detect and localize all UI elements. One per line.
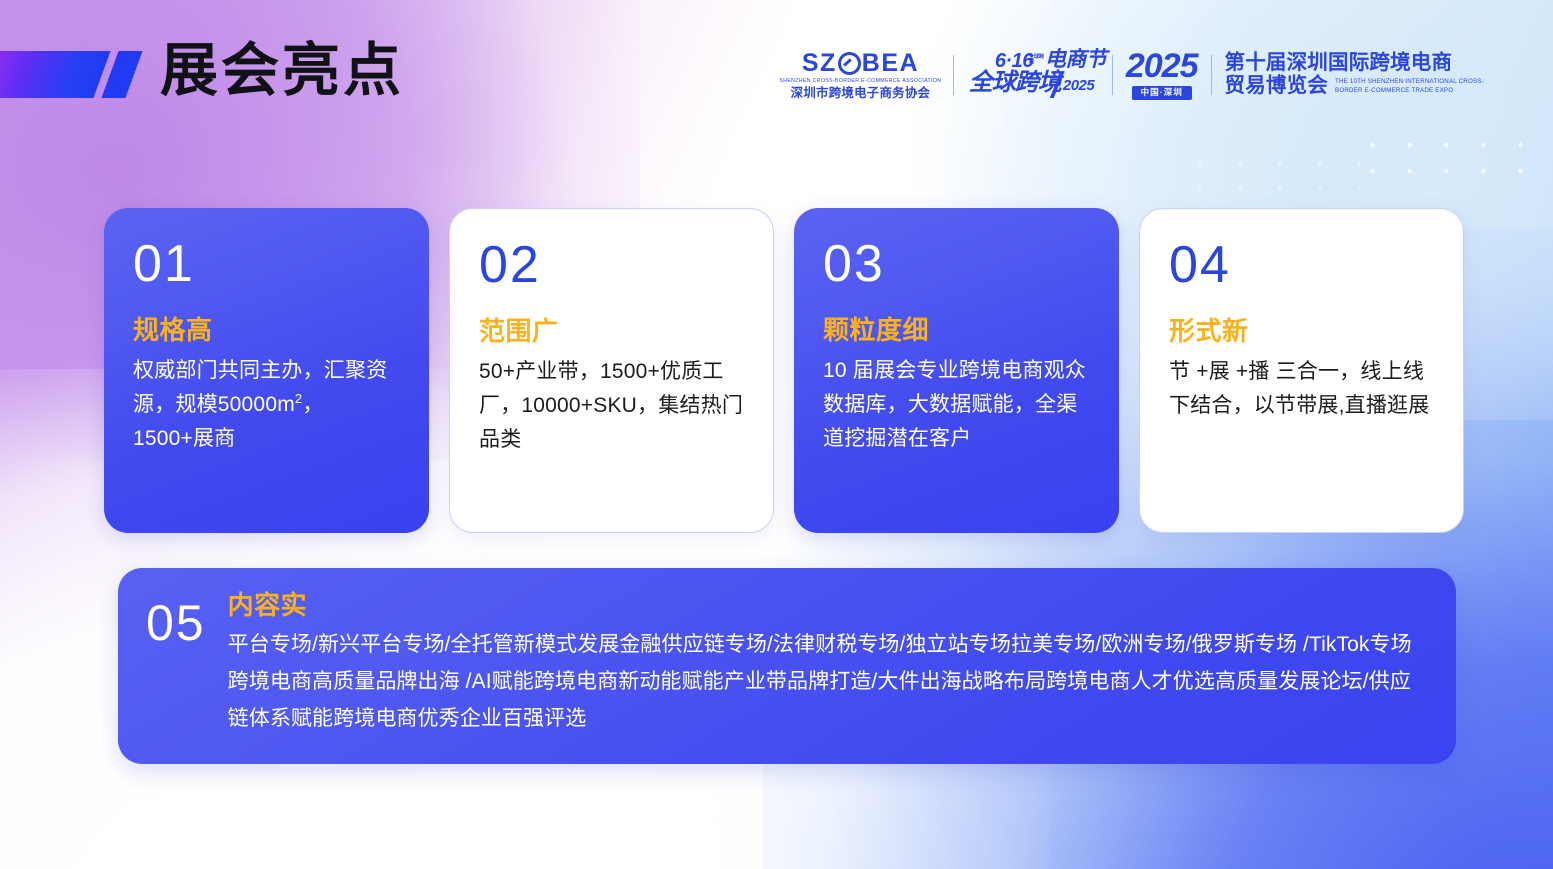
festival-year: 2025 bbox=[1063, 78, 1094, 93]
highlight-card-01[interactable]: 01 规格高 权威部门共同主办，汇聚资源，规模50000m2，1500+展商 bbox=[104, 208, 429, 533]
card-title: 颗粒度细 bbox=[823, 316, 1093, 346]
festival-logo: 6·16 全球跨境 电商节 全球跨境 2025 bbox=[967, 50, 1099, 100]
card-body: 50+产业带，1500+优质工厂，10000+SKU，集结热门品类 bbox=[479, 355, 747, 457]
card-title: 内容实 bbox=[228, 590, 1422, 621]
card-title: 规格高 bbox=[133, 316, 403, 346]
expo-name-logo: 第十届深圳国际跨境电商 贸易博览会 THE 10TH SHENZHEN INTE… bbox=[1225, 52, 1488, 98]
festival-name: 电商节 bbox=[1045, 49, 1107, 70]
logo-divider-1 bbox=[953, 55, 954, 95]
dot-pattern-secondary bbox=[1180, 150, 1360, 190]
slash-bar-primary bbox=[0, 51, 111, 98]
card-body: 平台专场/新兴平台专场/全托管新模式发展金融供应链专场/法律财税专场/独立站专场… bbox=[228, 627, 1422, 737]
page-header: 展会亮点 SZ BEA SHENZHEN CROSS-BORDER E-COMM… bbox=[0, 0, 1553, 140]
association-english-name: SHENZHEN CROSS-BORDER E-COMMERCE ASSOCIA… bbox=[779, 79, 941, 84]
highlight-card-05[interactable]: 05 内容实 平台专场/新兴平台专场/全托管新模式发展金融供应链专场/法律财税专… bbox=[118, 568, 1456, 764]
card-body-pre: 权威部门共同主办，汇聚资源，规模50000m bbox=[133, 359, 387, 416]
card-number: 01 bbox=[133, 238, 403, 290]
logo-lockup: SZ BEA SHENZHEN CROSS-BORDER E-COMMERCE … bbox=[781, 46, 1487, 104]
expo-year-logo: 2025 中国·深圳 bbox=[1126, 50, 1198, 99]
card-number: 04 bbox=[1169, 239, 1437, 291]
card-number: 02 bbox=[479, 239, 747, 291]
festival-subtitle: 全球跨境 bbox=[969, 71, 1061, 95]
association-chinese-name: 深圳市跨境电子商务协会 bbox=[791, 87, 931, 99]
expo-name-row2: 贸易博览会 THE 10TH SHENZHEN INTERNATIONAL CR… bbox=[1225, 75, 1488, 98]
association-wordmark: SZ BEA bbox=[802, 51, 919, 76]
logo-divider-3 bbox=[1211, 55, 1212, 95]
double-slash-icon bbox=[18, 51, 148, 98]
globe-ring-icon bbox=[838, 52, 861, 75]
highlight-card-04[interactable]: 04 形式新 节 +展 +播 三合一，线上线下结合，以节带展,直播逛展 bbox=[1139, 208, 1464, 533]
logo-divider-2 bbox=[1112, 55, 1113, 95]
expo-name-line2: 贸易博览会 bbox=[1225, 75, 1329, 98]
highlight-card-02[interactable]: 02 范围广 50+产业带，1500+优质工厂，10000+SKU，集结热门品类 bbox=[449, 208, 774, 533]
expo-name-line1: 第十届深圳国际跨境电商 bbox=[1225, 52, 1453, 75]
card-number: 03 bbox=[823, 238, 1093, 290]
card-title: 形式新 bbox=[1169, 317, 1437, 347]
festival-tagline: 全球跨境 bbox=[1029, 55, 1045, 66]
card-body: 节 +展 +播 三合一，线上线下结合，以节带展,直播逛展 bbox=[1169, 355, 1437, 423]
card-body: 10 届展会专业跨境电商观众数据库，大数据赋能，全渠道挖掘潜在客户 bbox=[823, 354, 1093, 456]
card-title: 范围广 bbox=[479, 317, 747, 347]
expo-english-name: THE 10TH SHENZHEN INTERNATIONAL CROSS-BO… bbox=[1335, 78, 1487, 98]
highlight-card-03[interactable]: 03 颗粒度细 10 届展会专业跨境电商观众数据库，大数据赋能，全渠道挖掘潜在客… bbox=[794, 208, 1119, 533]
expo-location-badge: 中国·深圳 bbox=[1132, 86, 1192, 100]
association-wordmark-left: SZ bbox=[802, 51, 837, 76]
card-number: 05 bbox=[146, 590, 206, 648]
highlight-cards-row: 01 规格高 权威部门共同主办，汇聚资源，规模50000m2，1500+展商 0… bbox=[104, 208, 1464, 533]
page-title: 展会亮点 bbox=[160, 36, 404, 106]
expo-year-number: 2025 bbox=[1126, 50, 1198, 83]
festival-date: 6·16 bbox=[995, 51, 1033, 71]
association-wordmark-right: BEA bbox=[862, 51, 919, 76]
card-text-group: 内容实 平台专场/新兴平台专场/全托管新模式发展金融供应链专场/法律财税专场/独… bbox=[228, 590, 1422, 737]
card-body: 权威部门共同主办，汇聚资源，规模50000m2，1500+展商 bbox=[133, 354, 403, 456]
slide-canvas: 展会亮点 SZ BEA SHENZHEN CROSS-BORDER E-COMM… bbox=[0, 0, 1553, 869]
association-logo: SZ BEA SHENZHEN CROSS-BORDER E-COMMERCE … bbox=[781, 51, 940, 99]
